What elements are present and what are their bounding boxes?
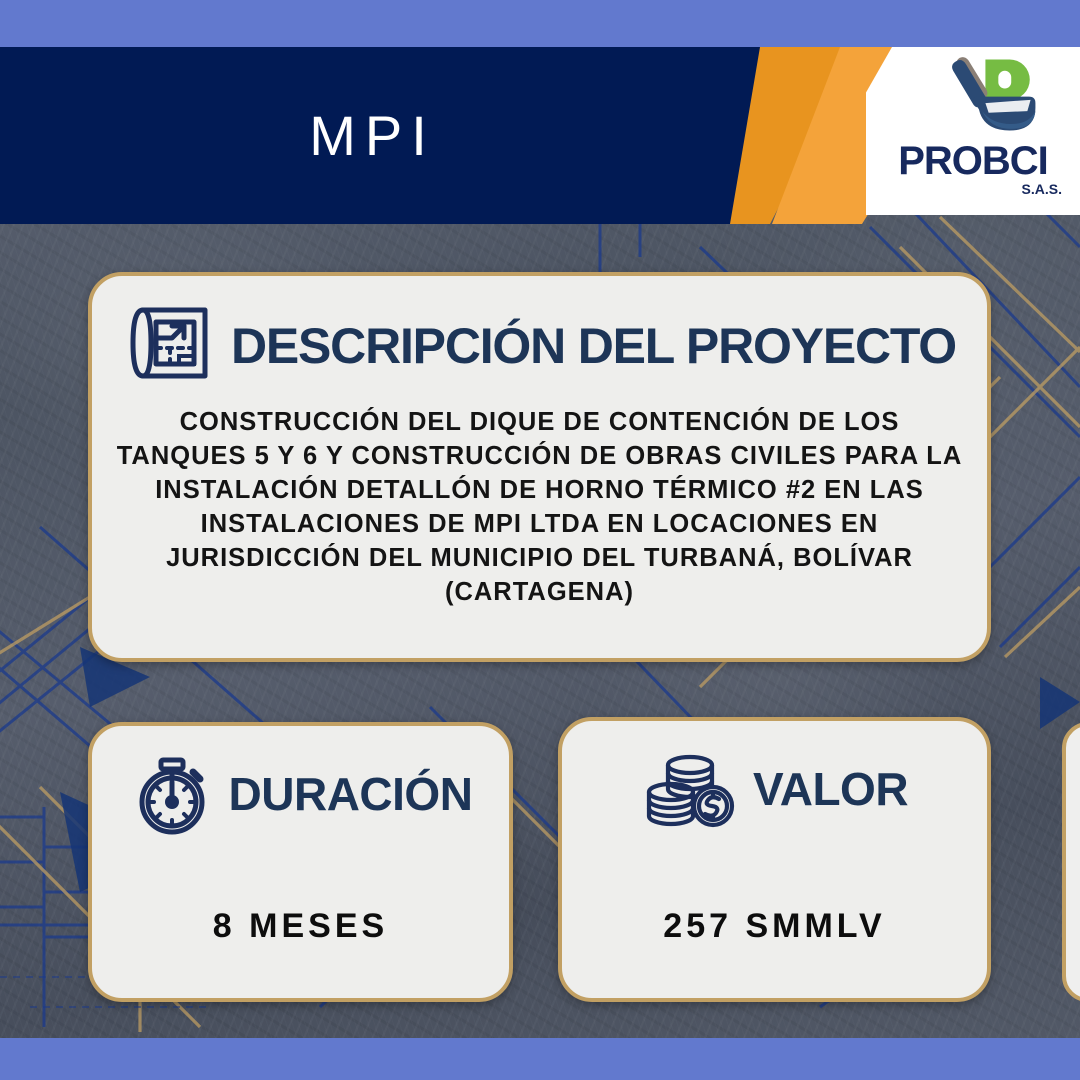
header-bar: MPI	[0, 47, 735, 224]
blueprint-roll-icon	[123, 300, 217, 392]
excavator-bucket-p-icon	[908, 49, 1058, 141]
bottom-accent-band	[0, 1038, 1080, 1080]
logo-sas-suffix: S.A.S.	[880, 181, 1062, 197]
duracion-stat-card: DURACIÓN 8 MESES	[88, 722, 513, 1002]
valor-card-header: VALOR	[562, 721, 987, 833]
probci-logo: PROBCI S.A.S.	[880, 49, 1066, 209]
description-card-header: DESCRIPCIÓN DEL PROYECTO	[92, 276, 987, 392]
valor-stat-card: VALOR 257 SMMLV	[558, 717, 991, 1002]
offscreen-card-edge	[1062, 722, 1080, 1002]
duracion-card-value: 8 MESES	[92, 907, 509, 946]
slide-canvas: MPI PROBCI S.A.S.	[0, 0, 1080, 1080]
stopwatch-icon	[129, 750, 215, 838]
brand-logo-panel: PROBCI S.A.S.	[866, 47, 1080, 215]
description-card-body: CONSTRUCCIÓN DEL DIQUE DE CONTENCIÓN DE …	[92, 392, 987, 609]
page-title: MPI	[0, 47, 735, 224]
logo-wordmark: PROBCI	[880, 141, 1066, 181]
top-accent-band	[0, 0, 1080, 47]
valor-card-value: 257 SMMLV	[562, 907, 987, 946]
coins-dollar-icon	[641, 745, 739, 833]
duracion-card-label: DURACIÓN	[229, 771, 473, 817]
valor-card-label: VALOR	[753, 766, 908, 812]
duracion-card-header: DURACIÓN	[92, 726, 509, 838]
description-card-title: DESCRIPCIÓN DEL PROYECTO	[231, 321, 956, 371]
project-description-card: DESCRIPCIÓN DEL PROYECTO CONSTRUCCIÓN DE…	[88, 272, 991, 662]
